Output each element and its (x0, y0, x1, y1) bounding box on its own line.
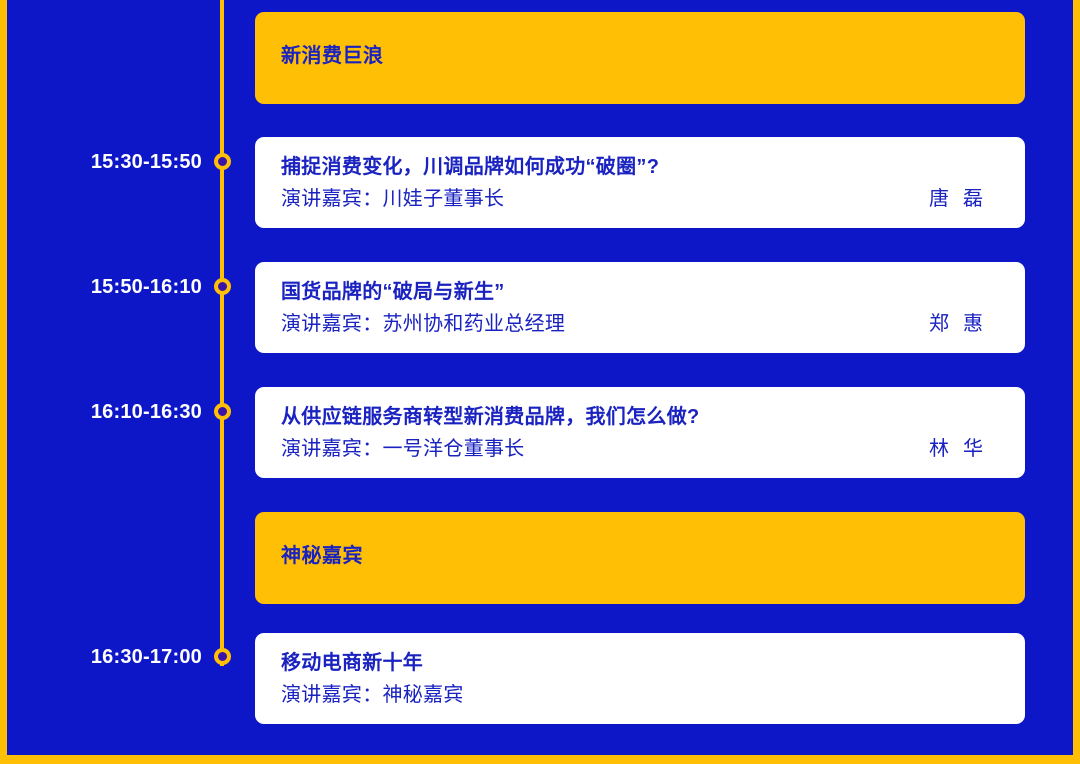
session-card[interactable]: 国货品牌的“破局与新生” 演讲嘉宾：苏州协和药业总经理 郑惠 (255, 262, 1025, 353)
session-speaker: 演讲嘉宾：苏州协和药业总经理 (281, 312, 565, 336)
session-speaker: 演讲嘉宾：川娃子董事长 (281, 187, 504, 211)
section-header-card[interactable]: 神秘嘉宾 (255, 512, 1025, 604)
session-title: 移动电商新十年 (281, 651, 423, 675)
section-header-title: 神秘嘉宾 (281, 546, 363, 566)
agenda-poster: 15:30-15:50 15:50-16:10 16:10-16:30 16:3… (0, 0, 1080, 764)
time-label: 16:30-17:00 (7, 647, 202, 667)
session-card[interactable]: 捕捉消费变化，川调品牌如何成功“破圈”? 演讲嘉宾：川娃子董事长 唐磊 (255, 137, 1025, 228)
session-speaker: 演讲嘉宾：一号洋仓董事长 (281, 437, 525, 461)
time-label: 16:10-16:30 (7, 402, 202, 422)
session-speaker-name: 郑惠 (915, 312, 997, 336)
section-header-title: 新消费巨浪 (281, 46, 384, 66)
timeline-marker-dot (214, 403, 231, 420)
agenda-canvas: 15:30-15:50 15:50-16:10 16:10-16:30 16:3… (7, 0, 1073, 755)
session-title: 国货品牌的“破局与新生” (281, 280, 505, 304)
session-title: 捕捉消费变化，川调品牌如何成功“破圈”? (281, 155, 659, 179)
session-card[interactable]: 从供应链服务商转型新消费品牌，我们怎么做? 演讲嘉宾：一号洋仓董事长 林华 (255, 387, 1025, 478)
session-card[interactable]: 移动电商新十年 演讲嘉宾：神秘嘉宾 (255, 633, 1025, 724)
timeline-marker-dot (214, 648, 231, 665)
timeline-rail (220, 0, 224, 666)
session-title: 从供应链服务商转型新消费品牌，我们怎么做? (281, 405, 700, 429)
section-header-card[interactable]: 新消费巨浪 (255, 12, 1025, 104)
time-label: 15:30-15:50 (7, 152, 202, 172)
session-speaker-name: 林华 (915, 437, 997, 461)
session-speaker: 演讲嘉宾：神秘嘉宾 (281, 683, 464, 707)
session-speaker-name: 唐磊 (915, 187, 997, 211)
timeline-marker-dot (214, 278, 231, 295)
time-label: 15:50-16:10 (7, 277, 202, 297)
timeline-marker-dot (214, 153, 231, 170)
